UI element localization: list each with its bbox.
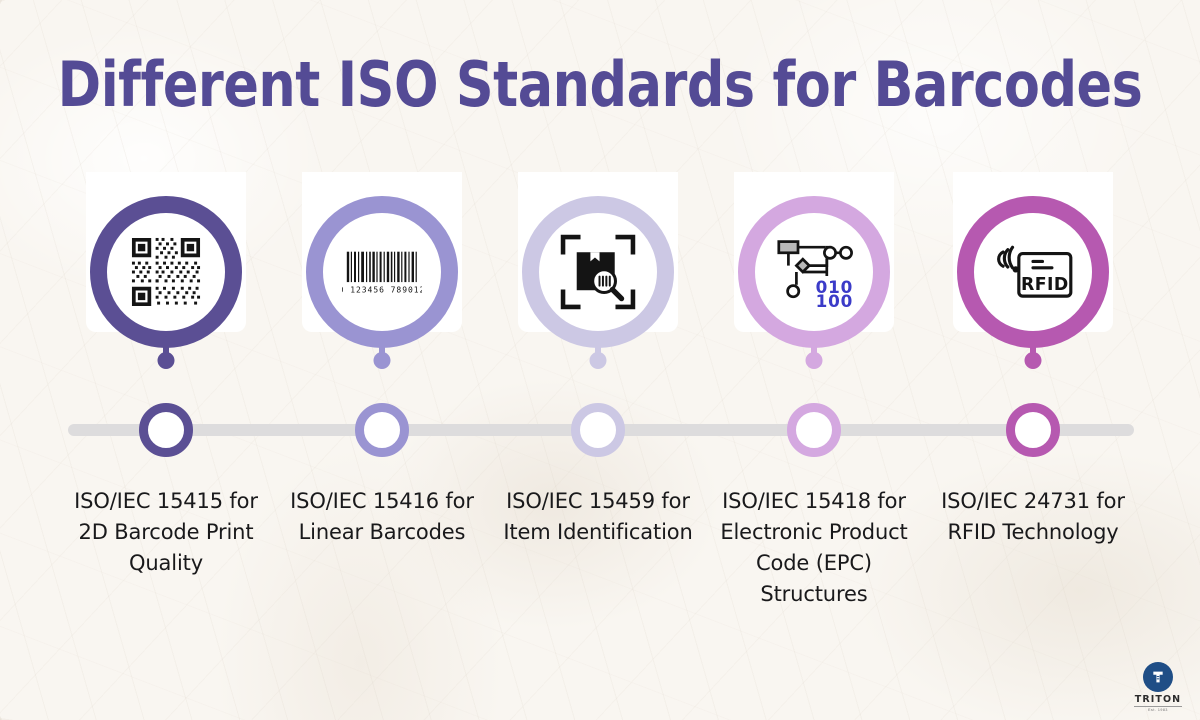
- icon-card-4: 0101 1001: [734, 172, 894, 332]
- icon-card-5: RFID: [953, 172, 1113, 332]
- triton-wordmark: TRITON: [1130, 694, 1186, 705]
- triton-tagline: Est. 1983: [1134, 706, 1182, 712]
- qr-code-icon: [125, 231, 207, 313]
- timeline-marker-5[interactable]: [1006, 403, 1060, 457]
- step-caption-3: ISO/IEC 15459 for Item Identification: [492, 486, 704, 548]
- package-scan-icon: [557, 231, 639, 313]
- step-column-2: 0 123456 789012 ISO/IEC 15416 for Linear…: [274, 0, 490, 720]
- ring-inner-3: [522, 196, 674, 348]
- step-caption-4: ISO/IEC 15418 for Electronic Product Cod…: [708, 486, 920, 609]
- icon-card-3: [518, 172, 678, 332]
- ring-inner-5: RFID: [957, 196, 1109, 348]
- ring-inner-1: [90, 196, 242, 348]
- step-column-1: ISO/IEC 15415 for 2D Barcode Print Quali…: [58, 0, 274, 720]
- connector-dot-1: [158, 352, 175, 369]
- timeline-marker-3[interactable]: [571, 403, 625, 457]
- icon-card-2: 0 123456 789012: [302, 172, 462, 332]
- rfid-card-icon: RFID: [992, 231, 1074, 313]
- binary-line-2: 1001: [816, 291, 854, 309]
- epc-network-icon: 0101 1001: [773, 231, 855, 313]
- linear-barcode-icon: 0 123456 789012: [341, 231, 423, 313]
- timeline-marker-1[interactable]: [139, 403, 193, 457]
- barcode-digits: 0 123456 789012: [342, 285, 422, 294]
- connector-dot-4: [806, 352, 823, 369]
- triton-logo[interactable]: TRITON Est. 1983: [1130, 662, 1186, 712]
- step-column-4: 0101 1001 ISO/IEC 15418 for Electronic P…: [706, 0, 922, 720]
- timeline-marker-4[interactable]: [787, 403, 841, 457]
- connector-dot-5: [1025, 352, 1042, 369]
- step-column-5: RFID ISO/IEC 24731 for RFID Technology: [925, 0, 1141, 720]
- triton-mark-icon: [1143, 662, 1173, 692]
- ring-inner-4: 0101 1001: [738, 196, 890, 348]
- timeline-marker-2[interactable]: [355, 403, 409, 457]
- connector-dot-2: [374, 352, 391, 369]
- step-caption-2: ISO/IEC 15416 for Linear Barcodes: [276, 486, 488, 548]
- steps-container: ISO/IEC 15415 for 2D Barcode Print Quali…: [0, 0, 1200, 720]
- rfid-card-text: RFID: [1021, 274, 1069, 294]
- ring-inner-2: 0 123456 789012: [306, 196, 458, 348]
- step-caption-5: ISO/IEC 24731 for RFID Technology: [927, 486, 1139, 548]
- connector-dot-3: [590, 352, 607, 369]
- step-caption-1: ISO/IEC 15415 for 2D Barcode Print Quali…: [60, 486, 272, 579]
- icon-card-1: [86, 172, 246, 332]
- step-column-3: ISO/IEC 15459 for Item Identification: [490, 0, 706, 720]
